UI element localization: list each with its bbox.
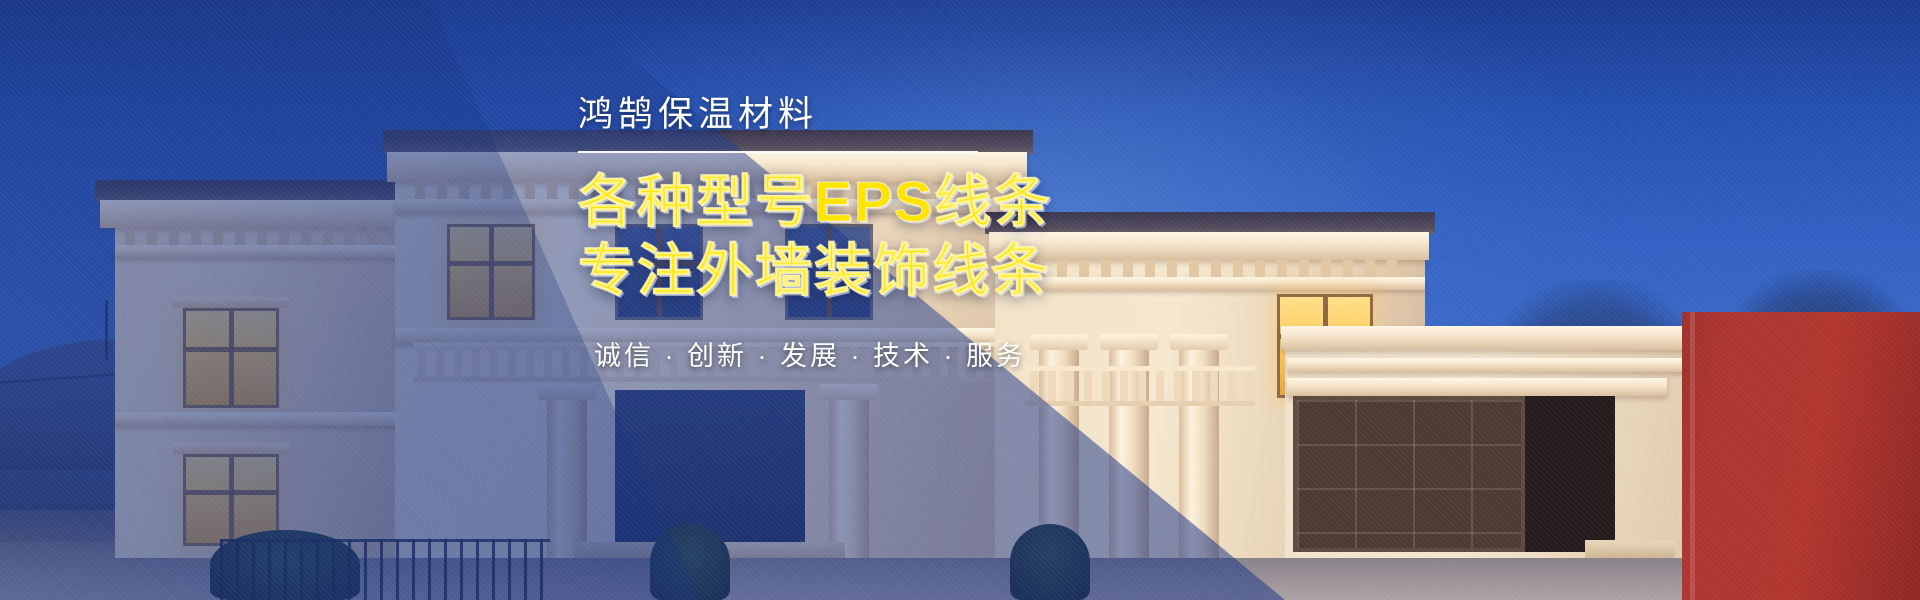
cornice-garage-band bbox=[1287, 358, 1691, 372]
garage-recess bbox=[1519, 396, 1615, 552]
garage-door bbox=[1293, 396, 1525, 552]
slogan: 诚信 · 创新 · 发展 · 技术 · 服务 bbox=[594, 334, 1298, 373]
cornice-garage-top bbox=[1281, 326, 1699, 350]
garage-step bbox=[1585, 540, 1675, 558]
red-wall bbox=[1682, 312, 1920, 600]
headline-line-1: 各种型号EPS线条 bbox=[578, 171, 1298, 235]
cornice-garage-lintel bbox=[1287, 378, 1667, 396]
promo-banner: 鸿鹄保温材料 各种型号EPS线条 专注外墙装饰线条 诚信 · 创新 · 发展 ·… bbox=[0, 0, 1920, 600]
divider-rule bbox=[578, 151, 978, 153]
headline-line-2: 专注外墙装饰线条 bbox=[578, 240, 1298, 304]
banner-text-block: 鸿鹄保温材料 各种型号EPS线条 专注外墙装饰线条 诚信 · 创新 · 发展 ·… bbox=[578, 96, 1298, 373]
brand-name: 鸿鹄保温材料 bbox=[578, 96, 1298, 135]
